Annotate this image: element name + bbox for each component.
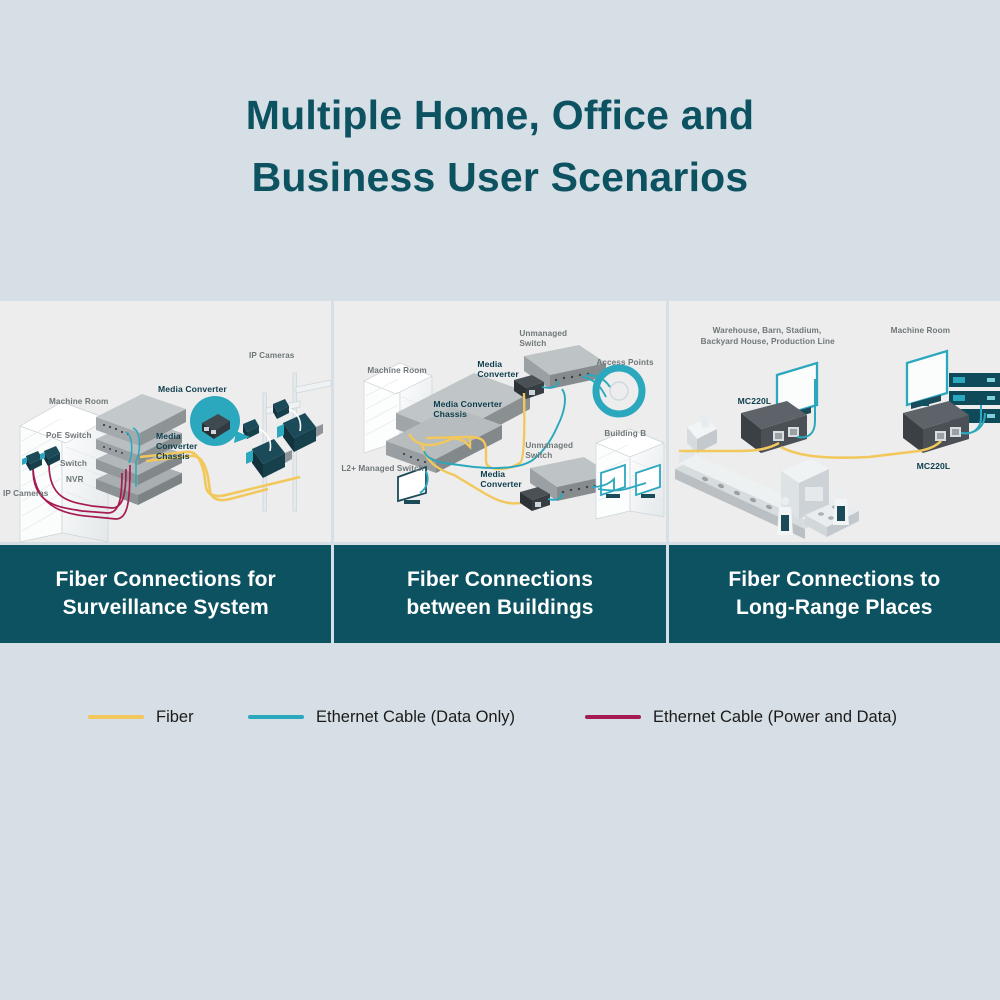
label-mc220l-right: MC220L xyxy=(917,461,951,471)
label-mc220l-left: MC220L xyxy=(738,396,772,406)
label-machine-room: Machine Room xyxy=(367,366,426,376)
media-converter-callout xyxy=(190,396,250,446)
cable-legend: Fiber Ethernet Cable (Data Only) Etherne… xyxy=(0,702,1000,732)
page-title-line-2: Business User Scenarios xyxy=(0,146,1000,208)
legend-item-fiber: Fiber xyxy=(88,702,194,732)
caption-between-buildings-line-2: between Buildings xyxy=(406,594,593,622)
label-l2-managed-switch: L2+ Managed Switch xyxy=(341,464,424,474)
fiber-link xyxy=(679,441,941,458)
label-chassis-line-2: Converter xyxy=(156,441,198,451)
caption-bars: Fiber Connections for Surveillance Syste… xyxy=(0,545,1000,643)
legend-item-ethernet-data: Ethernet Cable (Data Only) xyxy=(248,702,515,732)
label-ip-cameras-left: IP Cameras xyxy=(3,489,48,499)
caption-between-buildings-line-1: Fiber Connections xyxy=(406,566,593,594)
label-unmanaged-switch-top-line-2: Switch xyxy=(519,339,546,349)
scenario-panels: Machine Room PoE Switch Switch NVR IP Ca… xyxy=(0,301,1000,542)
caption-long-range-line-2: Long-Range Places xyxy=(728,594,940,622)
label-switch: Switch xyxy=(60,459,87,469)
ip-camera-large-1 xyxy=(246,439,292,478)
label-machine-room: Machine Room xyxy=(49,397,108,407)
panel-between-buildings[interactable]: Machine Room Unmanaged Switch Access Poi… xyxy=(334,301,665,542)
label-chassis-line-1: Media Converter xyxy=(433,399,502,409)
label-site-line-1: Warehouse, Barn, Stadium, xyxy=(713,326,822,336)
page-title: Multiple Home, Office and Business User … xyxy=(0,84,1000,208)
label-media-converter-bottom-line-2: Converter xyxy=(480,479,522,489)
legend-label-ethernet-power: Ethernet Cable (Power and Data) xyxy=(653,708,897,727)
label-media-converter-top-line-1: Media xyxy=(477,359,502,369)
label-unmanaged-switch-bottom-line-2: Switch xyxy=(525,451,552,461)
label-media-converter-bottom-line-1: Media xyxy=(480,469,505,479)
label-media-converter-top-line-2: Converter xyxy=(477,369,519,379)
label-machine-room: Machine Room xyxy=(891,326,950,336)
label-unmanaged-switch-bottom-line-1: Unmanaged xyxy=(525,441,573,451)
label-ip-cameras-right: IP Cameras xyxy=(249,351,294,361)
label-access-points: Access Points xyxy=(596,358,653,368)
caption-surveillance[interactable]: Fiber Connections for Surveillance Syste… xyxy=(0,545,331,643)
legend-item-ethernet-power: Ethernet Cable (Power and Data) xyxy=(585,702,897,732)
monitor-right xyxy=(907,351,947,409)
label-building-b: Building B xyxy=(604,429,646,439)
label-poe-switch: PoE Switch xyxy=(46,431,92,441)
ethernet-data-line-swatch-icon xyxy=(248,715,304,719)
panel-surveillance[interactable]: Machine Room PoE Switch Switch NVR IP Ca… xyxy=(0,301,331,542)
page-root: Multiple Home, Office and Business User … xyxy=(0,0,1000,1000)
fiber-line-swatch-icon xyxy=(88,715,144,719)
label-media-converter: Media Converter xyxy=(158,384,227,394)
diagram-between-buildings xyxy=(334,301,665,542)
caption-between-buildings[interactable]: Fiber Connections between Buildings xyxy=(334,545,665,643)
label-chassis-line-3: Chassis xyxy=(156,451,190,461)
label-chassis-line-1: Media xyxy=(156,431,181,441)
page-title-line-1: Multiple Home, Office and xyxy=(0,84,1000,146)
label-chassis-line-2: Chassis xyxy=(433,409,467,419)
label-unmanaged-switch-top-line-1: Unmanaged xyxy=(519,329,567,339)
diagram-surveillance xyxy=(0,301,331,542)
legend-label-fiber: Fiber xyxy=(156,708,194,727)
legend-label-ethernet-data: Ethernet Cable (Data Only) xyxy=(316,708,515,727)
label-site-line-2: Backyard House, Production Line xyxy=(701,337,835,347)
label-nvr: NVR xyxy=(66,475,84,485)
caption-long-range-line-1: Fiber Connections to xyxy=(728,566,940,594)
worker-2 xyxy=(833,489,849,525)
caption-surveillance-line-2: Surveillance System xyxy=(56,594,276,622)
caption-surveillance-line-1: Fiber Connections for xyxy=(56,566,276,594)
panel-long-range[interactable]: Warehouse, Barn, Stadium, Backyard House… xyxy=(669,301,1000,542)
ethernet-power-line-swatch-icon xyxy=(585,715,641,719)
ip-camera-pole-small-2 xyxy=(273,399,289,419)
caption-long-range[interactable]: Fiber Connections to Long-Range Places xyxy=(669,545,1000,643)
